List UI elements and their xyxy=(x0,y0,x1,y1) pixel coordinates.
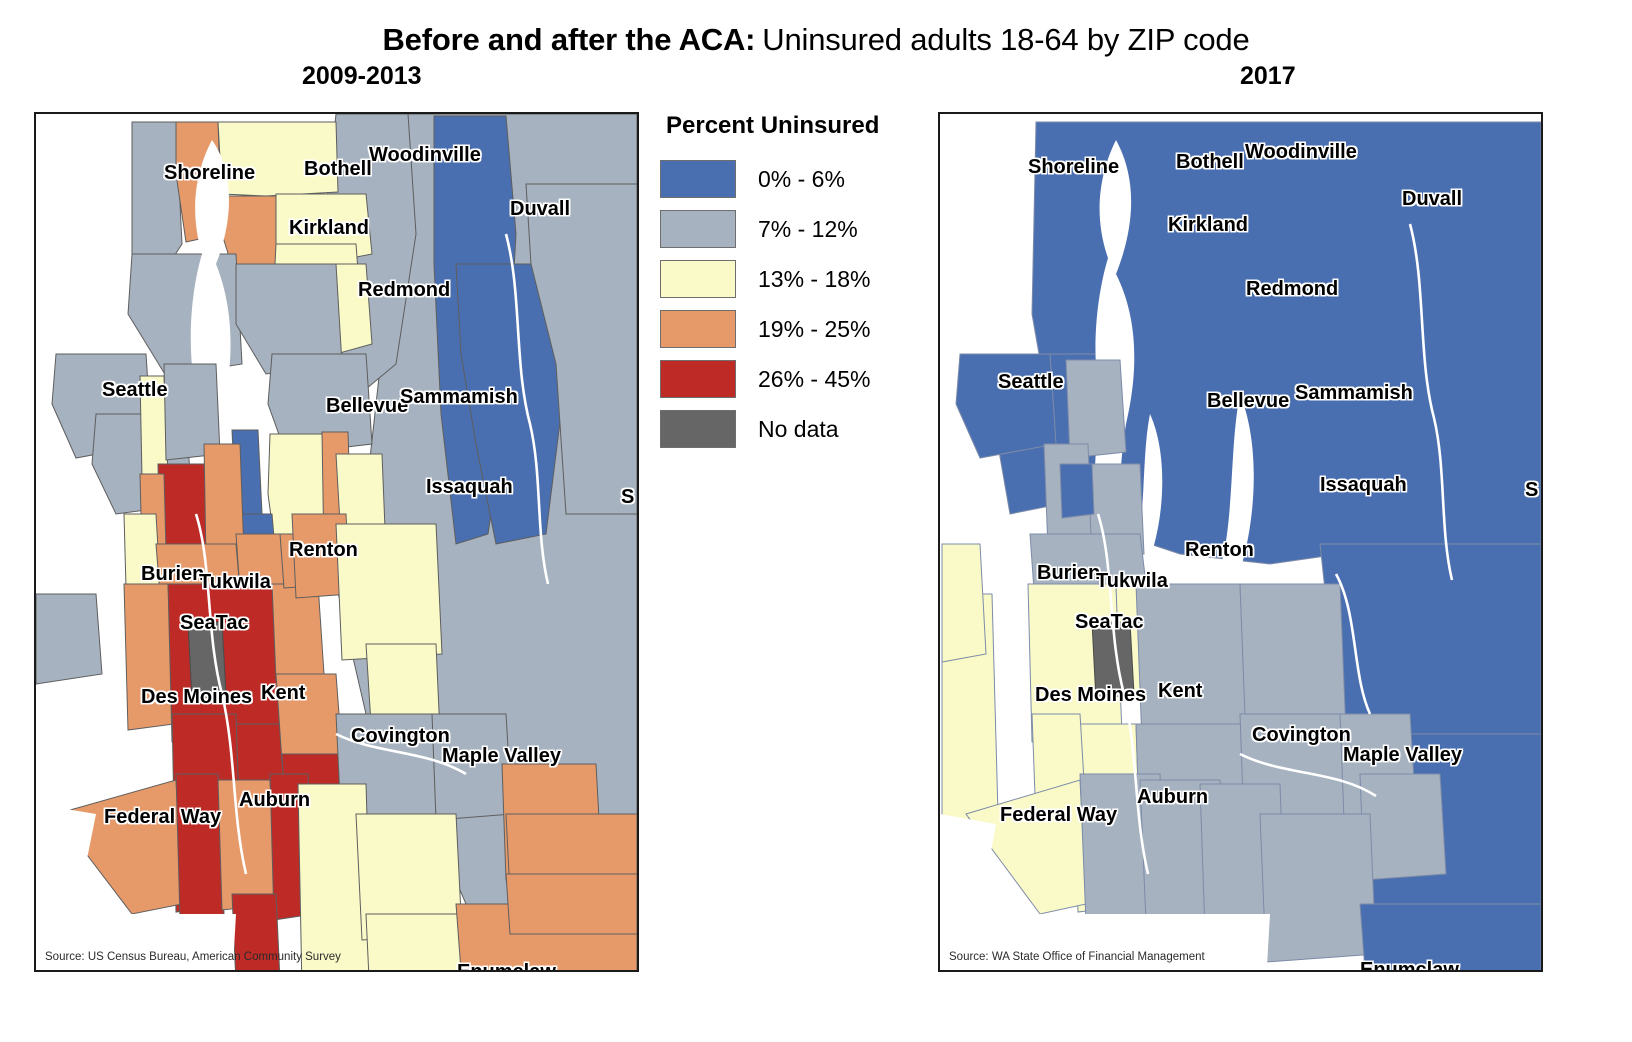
legend-label: 26% - 45% xyxy=(758,366,871,393)
legend-item[interactable]: 7% - 12% xyxy=(660,204,936,254)
map-legend: Percent Uninsured 0% - 6%7% - 12%13% - 1… xyxy=(660,112,936,454)
right-source-note: Source: WA State Office of Financial Man… xyxy=(949,951,1205,963)
legend-item[interactable]: 26% - 45% xyxy=(660,354,936,404)
legend-swatch xyxy=(660,360,736,398)
legend-item[interactable]: 0% - 6% xyxy=(660,154,936,204)
title-regular-part: Uninsured adults 18-64 by ZIP code xyxy=(762,22,1249,58)
legend-label: No data xyxy=(758,416,839,443)
legend-swatch xyxy=(660,310,736,348)
left-panel-subtitle: 2009-2013 xyxy=(302,62,422,91)
map-2017[interactable]: Source: WA State Office of Financial Man… xyxy=(938,112,1543,972)
right-panel-subtitle: 2017 xyxy=(1240,62,1296,91)
title-bold-part: Before and after the ACA: xyxy=(383,22,756,58)
legend-label: 19% - 25% xyxy=(758,316,871,343)
chart-title: Before and after the ACA: Uninsured adul… xyxy=(0,0,1632,62)
legend-swatch xyxy=(660,210,736,248)
map-right-svg xyxy=(940,114,1541,970)
map-left-svg xyxy=(36,114,637,970)
legend-item[interactable]: 19% - 25% xyxy=(660,304,936,354)
map-2009-2013[interactable]: Source: US Census Bureau, American Commu… xyxy=(34,112,639,972)
legend-swatch xyxy=(660,260,736,298)
legend-items: 0% - 6%7% - 12%13% - 18%19% - 25%26% - 4… xyxy=(660,154,936,454)
legend-label: 7% - 12% xyxy=(758,216,858,243)
legend-item[interactable]: 13% - 18% xyxy=(660,254,936,304)
legend-title: Percent Uninsured xyxy=(666,112,936,140)
left-source-note: Source: US Census Bureau, American Commu… xyxy=(45,951,341,963)
legend-swatch xyxy=(660,160,736,198)
legend-swatch xyxy=(660,410,736,448)
panel-subtitles: 2009-2013 2017 xyxy=(0,62,1632,96)
legend-label: 0% - 6% xyxy=(758,166,845,193)
legend-label: 13% - 18% xyxy=(758,266,871,293)
legend-item[interactable]: No data xyxy=(660,404,936,454)
map-panels: Source: US Census Bureau, American Commu… xyxy=(0,112,1632,1042)
